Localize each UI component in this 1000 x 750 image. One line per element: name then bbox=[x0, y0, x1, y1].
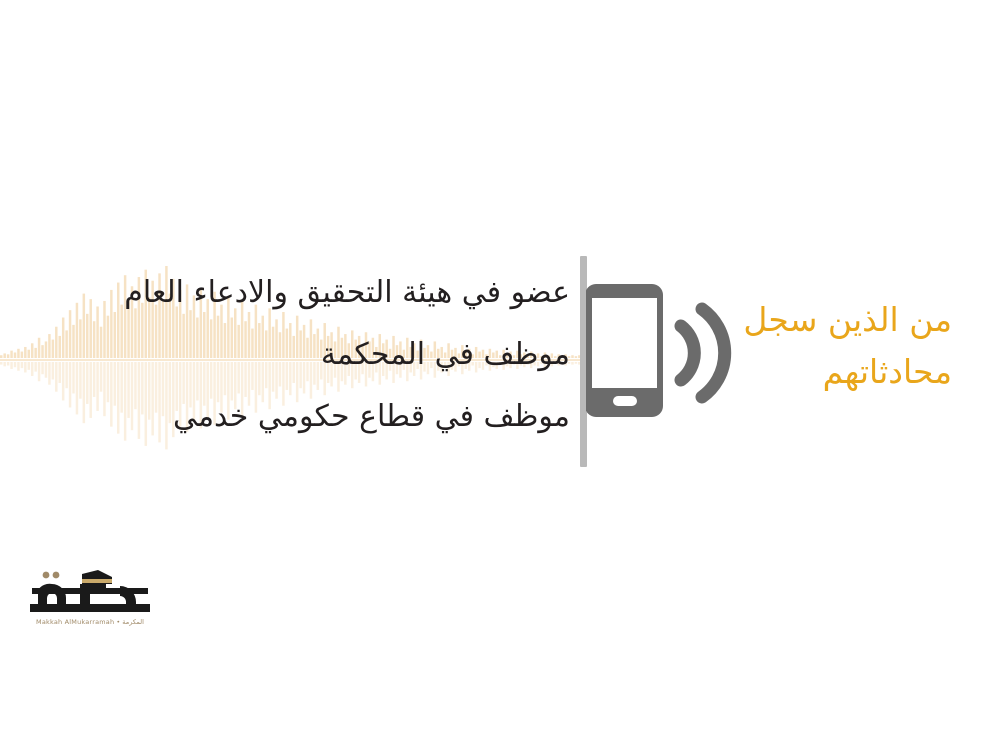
headline-line-2: محادثاتهم bbox=[692, 346, 952, 398]
logo-wordmark-icon bbox=[24, 566, 156, 616]
logo-subtitle: المكرمة • Makkah AlMukarramah bbox=[24, 618, 156, 626]
role-line-3: موظف في قطاع حكومي خدمي bbox=[70, 386, 570, 448]
roles-text-block: عضو في هيئة التحقيق والادعاء العام موظف … bbox=[70, 262, 570, 448]
infographic-canvas: عضو في هيئة التحقيق والادعاء العام موظف … bbox=[0, 0, 1000, 750]
headline-block: من الذين سجل محادثاتهم bbox=[692, 294, 952, 398]
role-line-2: موظف في المحكمة bbox=[70, 324, 570, 386]
headline-line-1: من الذين سجل bbox=[692, 294, 952, 346]
makkah-logo[interactable]: المكرمة • Makkah AlMukarramah bbox=[24, 566, 156, 634]
role-line-1: عضو في هيئة التحقيق والادعاء العام bbox=[70, 262, 570, 324]
